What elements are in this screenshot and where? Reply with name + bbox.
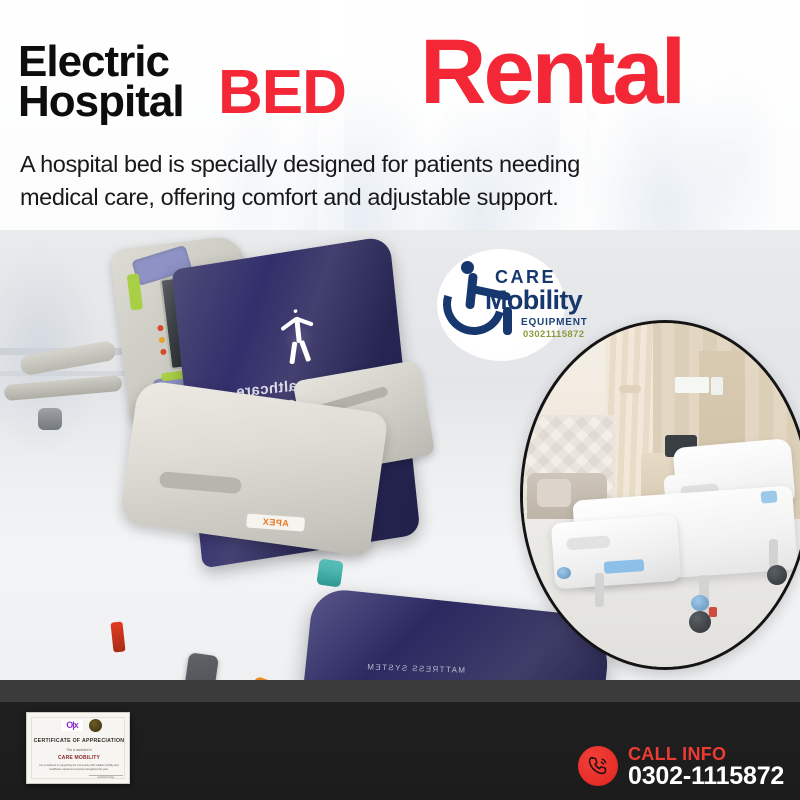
inset-caster-pedal-blue-2: [557, 567, 571, 579]
side-rail-brand-label: APEX: [246, 514, 305, 532]
call-info-number[interactable]: 0302-1115872: [628, 762, 784, 791]
inset-bed-leg-1: [595, 573, 604, 607]
poster-canvas: Electric Hospital BED Rental A hospital …: [0, 0, 800, 800]
subtitle-line1: A hospital bed is specially designed for…: [20, 151, 580, 177]
certificate-signature: Authorized Sign: [89, 775, 123, 782]
inset-bed-rail-near: [551, 515, 681, 590]
inset-caster-brake-red: [709, 607, 717, 617]
console-indicator-red: [157, 325, 164, 332]
call-info-block[interactable]: CALL INFO 0302-1115872: [578, 742, 788, 790]
logo-text-mobility: Mobility: [485, 285, 582, 316]
logo-text-equipment: EQUIPMENT: [521, 317, 588, 328]
inset-rail-blue-accent-far: [761, 490, 778, 503]
certificate-issuer-mark: O|x: [61, 720, 83, 731]
care-mobility-logo: CARE Mobility EQUIPMENT 03021115872: [437, 249, 565, 361]
headline-group: Electric Hospital BED Rental: [0, 0, 800, 150]
console-indicator-amber: [159, 337, 166, 344]
inset-sofa-pillow: [537, 479, 571, 507]
certificate-body: For excellence in supporting the communi…: [35, 764, 123, 772]
inset-caster-1: [689, 611, 711, 633]
headline-bed: BED: [218, 62, 346, 124]
inset-wall-panel-switch: [711, 377, 723, 395]
certificate-presented-label: This is awarded to: [27, 748, 130, 752]
logo-text-phone: 03021115872: [523, 329, 584, 340]
certificate-title: CERTIFICATE OF APPRECIATION: [27, 738, 130, 744]
subtitle-line2: medical care, offering comfort and adjus…: [20, 181, 800, 214]
mattress-logo-figure-icon: [268, 295, 329, 373]
side-rail-lower-notch: [159, 471, 242, 494]
headline-black: Electric Hospital: [18, 42, 184, 123]
inset-rail-blue-accent: [604, 559, 645, 574]
bed-accessory-arm-upper: [19, 340, 117, 376]
gold-seal-icon: [89, 719, 102, 732]
inset-caster-2: [767, 565, 787, 585]
inset-rail-near-slot: [566, 535, 611, 550]
certificate-recipient: CARE MOBILITY: [27, 755, 130, 761]
bed-release-red: [110, 621, 125, 652]
inset-hospital-room-photo: [520, 320, 800, 670]
inset-curtain-tieback: [619, 385, 641, 393]
console-indicator-red-2: [160, 349, 167, 356]
headline-rental: Rental: [420, 26, 683, 118]
inset-caster-pedal-blue: [691, 595, 709, 611]
bed-arm-knob: [38, 408, 62, 430]
inset-wall-panel-light: [675, 377, 709, 393]
headline-line2: Hospital: [18, 82, 184, 122]
phone-call-icon[interactable]: [578, 746, 618, 786]
footer-top-strip: [0, 680, 800, 702]
bed-lever-teal: [316, 558, 343, 587]
subtitle: A hospital bed is specially designed for…: [20, 148, 800, 215]
bed-accessory-arm-lower: [4, 375, 123, 401]
certificate-of-appreciation: O|x CERTIFICATE OF APPRECIATION This is …: [26, 712, 130, 784]
